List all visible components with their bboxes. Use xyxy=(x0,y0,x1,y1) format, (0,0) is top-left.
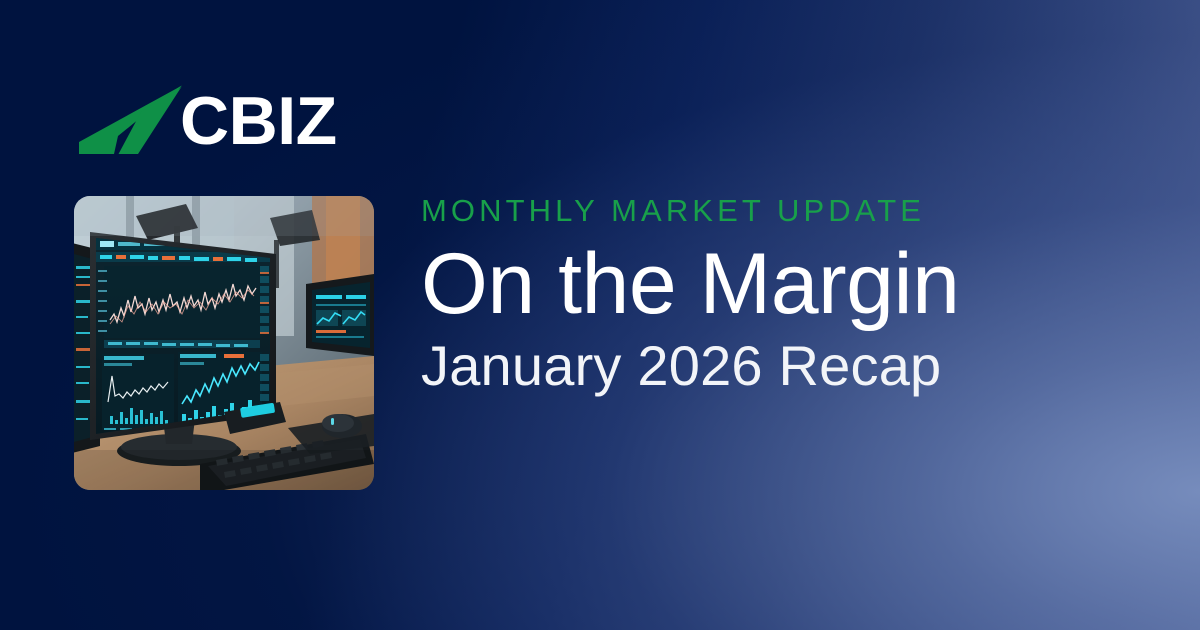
headline-block: MONTHLY MARKET UPDATE On the Margin Janu… xyxy=(421,192,1141,398)
cbiz-arrow-mark-icon xyxy=(78,84,186,158)
trading-desk-photo xyxy=(74,196,374,490)
eyebrow-label: MONTHLY MARKET UPDATE xyxy=(421,192,1141,230)
page-subtitle: January 2026 Recap xyxy=(421,334,1141,398)
cbiz-logo[interactable]: CBIZ xyxy=(78,84,337,158)
cbiz-wordmark: CBIZ xyxy=(180,84,337,158)
marketing-banner: CBIZ xyxy=(0,0,1200,630)
page-title: On the Margin xyxy=(421,236,1141,332)
trading-desk-photo-illustration xyxy=(74,196,374,490)
